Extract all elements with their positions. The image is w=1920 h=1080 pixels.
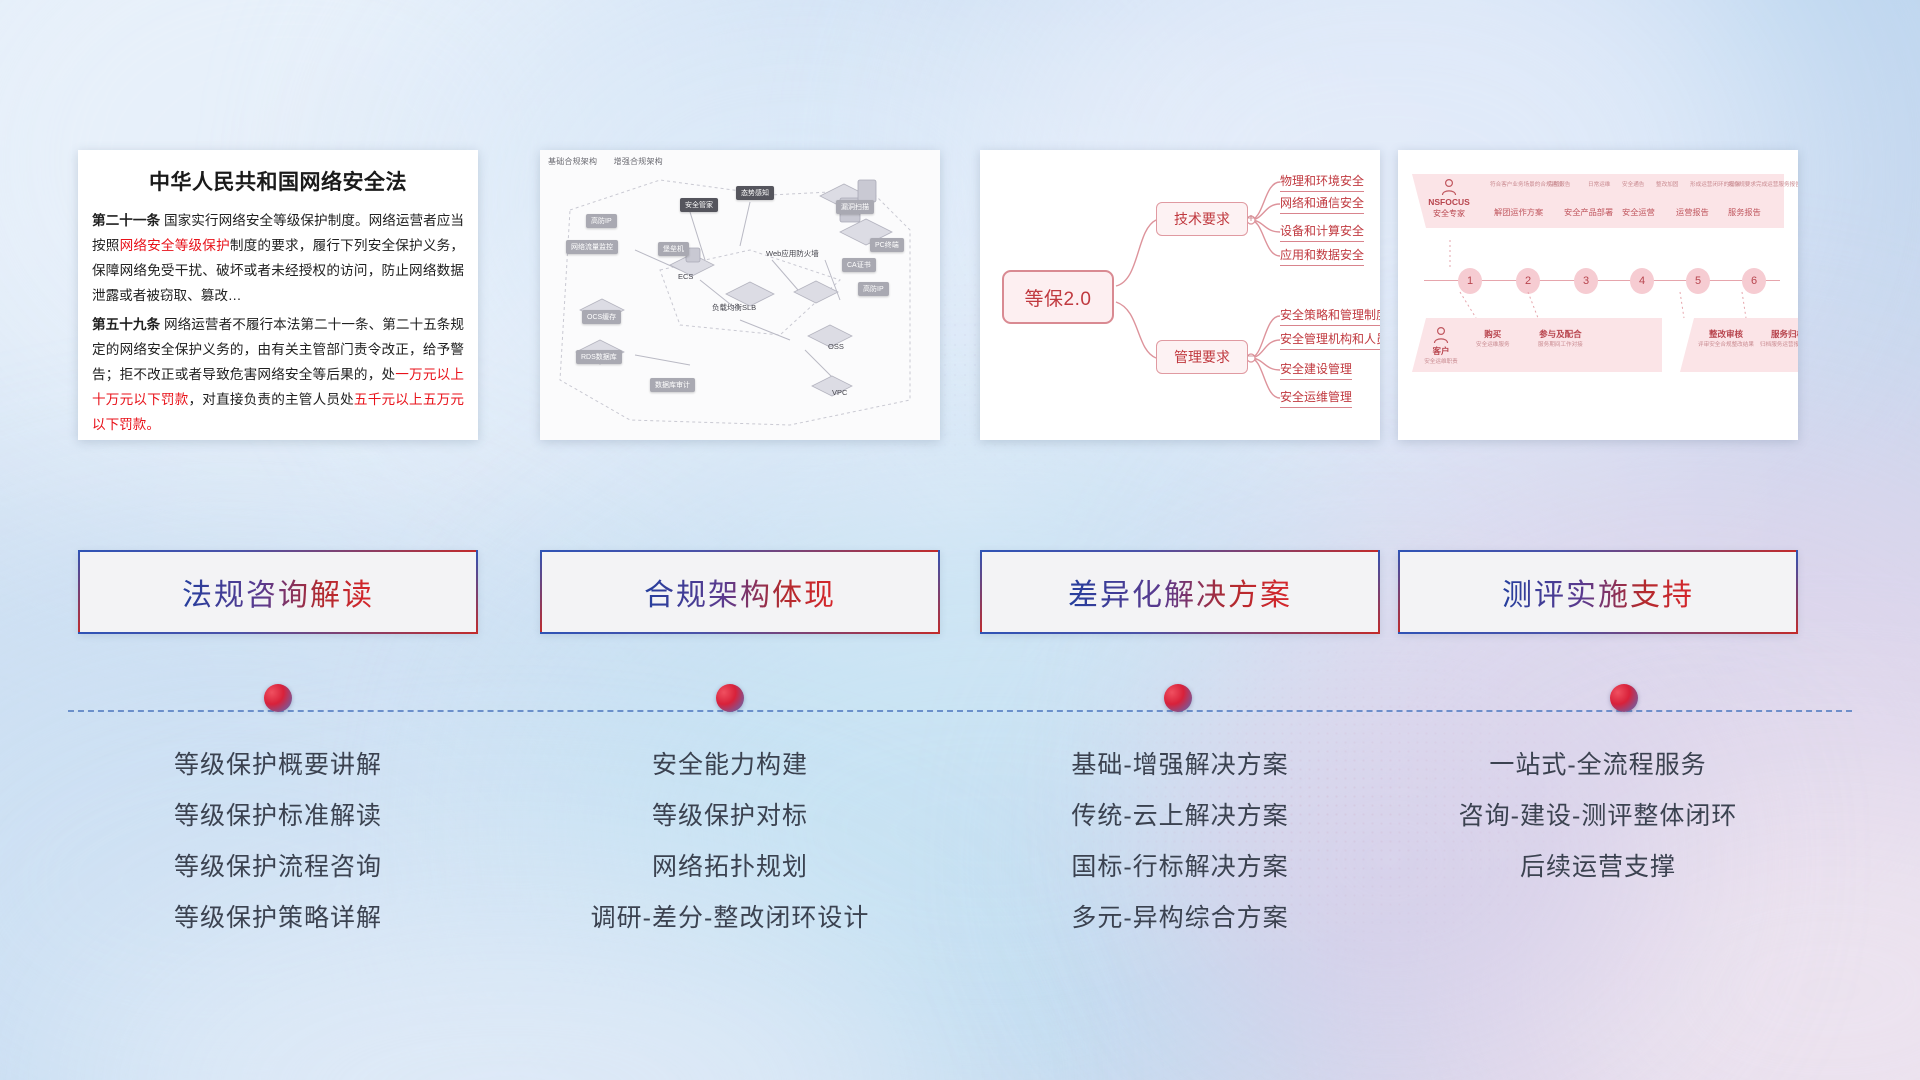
law-text: ，对直接负责的主管人员处 <box>189 392 354 407</box>
topology-chip: 高防IP <box>858 282 889 296</box>
title-label: 测评实施支持 <box>1502 570 1694 614</box>
card-service-roadmap[interactable]: NSFOCUS 安全专家 解团运作方案安全产品部署安全运营运营报告服务报告 符合… <box>1398 150 1798 440</box>
timeline-dot[interactable] <box>264 684 292 712</box>
roadmap-customer-step: 购买安全运维服务 <box>1476 328 1510 348</box>
roadmap-customer-step-sub: 服务期间工作对接 <box>1538 340 1583 348</box>
topology-node-label: Web应用防火墙 <box>766 248 819 259</box>
law-article-number: 第五十九条 <box>92 317 160 332</box>
topology-canvas: 基础合规架构 增强合规架构 <box>540 150 940 440</box>
title-label: 差异化解决方案 <box>1068 570 1292 614</box>
topology-node-label: ECS <box>678 272 693 281</box>
feature-list-item: 网络拓扑规划 <box>530 842 930 893</box>
topology-chip: CA证书 <box>842 258 876 272</box>
mindmap-leaf-node: 安全管理机构和人员 <box>1280 332 1380 350</box>
mindmap-leaf-node: 设备和计算安全 <box>1280 224 1364 242</box>
slide-stage: 中华人民共和国网络安全法 第二十一条 国家实行网络安全等级保护制度。网络运营者应… <box>0 0 1920 1080</box>
law-article-number: 第二十一条 <box>92 213 160 228</box>
title-box-top-border <box>540 550 940 552</box>
timeline-dot[interactable] <box>1164 684 1192 712</box>
feature-list-item: 后续运营支撑 <box>1398 842 1798 893</box>
title-box-regulation-consulting[interactable]: 法规咨询解读 <box>78 550 478 634</box>
mindmap-leaf-node: 安全策略和管理制度 <box>1280 308 1380 326</box>
mindmap-leaf-node: 安全运维管理 <box>1280 390 1352 408</box>
topology-chip: 漏洞扫描 <box>836 200 874 214</box>
card-mindmap[interactable]: 等保2.0 技术要求 管理要求 物理和环境安全网络和通信安全设备和计算安全应用和… <box>980 150 1380 440</box>
card-cloud-topology[interactable]: 基础合规架构 增强合规架构 <box>540 150 940 440</box>
topology-chip: 网络流量监控 <box>566 240 618 254</box>
topology-chip: 数据库审计 <box>650 378 695 392</box>
topology-node-label: VPC <box>832 388 847 397</box>
roadmap-tail-step: 整改审核评审安全合规整改结果 <box>1698 328 1754 348</box>
feature-list-item: 调研-差分-整改闭环设计 <box>530 893 930 944</box>
title-box-top-border <box>980 550 1380 552</box>
title-box-bottom-border <box>78 632 478 634</box>
customer-person-icon <box>1430 326 1452 344</box>
feature-list-differentiated-solution: 基础-增强解决方案传统-云上解决方案国标-行标解决方案多元-异构综合方案 <box>980 740 1380 944</box>
topology-chip: OCS缓存 <box>582 310 621 324</box>
card-law-document[interactable]: 中华人民共和国网络安全法 第二十一条 国家实行网络安全等级保护制度。网络运营者应… <box>78 150 478 440</box>
feature-list-item: 等级保护标准解读 <box>78 791 478 842</box>
feature-list-item: 多元-异构综合方案 <box>980 893 1380 944</box>
topology-chip: 堡垒机 <box>658 242 689 256</box>
mindmap-leaf-node: 应用和数据安全 <box>1280 248 1364 266</box>
roadmap-tail-step-title: 整改审核 <box>1698 328 1754 340</box>
title-box-differentiated-solution[interactable]: 差异化解决方案 <box>980 550 1380 634</box>
feature-list-regulation-consulting: 等级保护概要讲解等级保护标准解读等级保护流程咨询等级保护策略详解 <box>78 740 478 944</box>
feature-list-item: 一站式-全流程服务 <box>1398 740 1798 791</box>
roadmap-dotted-connectors-icon <box>1398 150 1798 440</box>
feature-list-compliance-architecture: 安全能力构建等级保护对标网络拓扑规划调研-差分-整改闭环设计 <box>530 740 930 944</box>
roadmap-customer-step-title: 参与及配合 <box>1538 328 1583 340</box>
title-label: 合规架构体现 <box>644 570 836 614</box>
feature-list-item: 安全能力构建 <box>530 740 930 791</box>
roadmap-tail-step-title: 服务归档 <box>1760 328 1798 340</box>
roadmap-customer-step-title: 购买 <box>1476 328 1510 340</box>
title-box-bottom-border <box>540 632 940 634</box>
topology-chip: PC终端 <box>870 238 904 252</box>
feature-list-item: 等级保护流程咨询 <box>78 842 478 893</box>
topology-node-label: OSS <box>828 342 844 351</box>
feature-list-item: 咨询-建设-测评整体闭环 <box>1398 791 1798 842</box>
timeline-dot[interactable] <box>716 684 744 712</box>
title-box-bottom-border <box>980 632 1380 634</box>
law-paragraph: 第五十九条 网络运营者不履行本法第二十一条、第二十五条规定的网络安全保护义务的，… <box>92 312 464 437</box>
feature-list-item: 等级保护策略详解 <box>78 893 478 944</box>
mindmap-branch-management: 管理要求 <box>1156 340 1248 374</box>
roadmap-tail-step-sub: 归档服务运营报告材料 <box>1760 340 1798 348</box>
title-box-top-border <box>78 550 478 552</box>
title-label: 法规咨询解读 <box>182 570 374 614</box>
timeline-dot[interactable] <box>1610 684 1638 712</box>
topology-chip: 高防IP <box>586 214 617 228</box>
title-box-bottom-border <box>1398 632 1798 634</box>
feature-list-item: 基础-增强解决方案 <box>980 740 1380 791</box>
law-body: 第二十一条 国家实行网络安全等级保护制度。网络运营者应当按照网络安全等级保护制度… <box>78 208 478 437</box>
timeline-dashed-line <box>68 710 1852 712</box>
roadmap-customer-step-sub: 安全运维服务 <box>1476 340 1510 348</box>
law-highlight-text: 网络安全等级保护 <box>120 238 230 253</box>
mindmap-branch-technical: 技术要求 <box>1156 202 1248 236</box>
mindmap-canvas: 等保2.0 技术要求 管理要求 物理和环境安全网络和通信安全设备和计算安全应用和… <box>980 150 1380 440</box>
feature-list-item: 国标-行标解决方案 <box>980 842 1380 893</box>
title-box-assessment-support[interactable]: 测评实施支持 <box>1398 550 1798 634</box>
law-title: 中华人民共和国网络安全法 <box>78 166 478 196</box>
mindmap-leaf-node: 安全建设管理 <box>1280 362 1352 380</box>
law-paragraph: 第二十一条 国家实行网络安全等级保护制度。网络运营者应当按照网络安全等级保护制度… <box>92 208 464 308</box>
roadmap-customer-label: 客户 安全运维职责 <box>1424 326 1458 365</box>
title-box-compliance-architecture[interactable]: 合规架构体现 <box>540 550 940 634</box>
mindmap-root-node: 等保2.0 <box>1002 270 1114 324</box>
topology-chip: RDS数据库 <box>576 350 622 364</box>
mindmap-leaf-node: 物理和环境安全 <box>1280 174 1364 192</box>
feature-list-assessment-support: 一站式-全流程服务咨询-建设-测评整体闭环后续运营支撑 <box>1398 740 1798 893</box>
roadmap-canvas: NSFOCUS 安全专家 解团运作方案安全产品部署安全运营运营报告服务报告 符合… <box>1398 150 1798 440</box>
feature-list-item: 等级保护概要讲解 <box>78 740 478 791</box>
roadmap-tail-step-sub: 评审安全合规整改结果 <box>1698 340 1754 348</box>
roadmap-tail-step: 服务归档归档服务运营报告材料 <box>1760 328 1798 348</box>
roadmap-customer-sub: 安全运维职责 <box>1424 357 1458 365</box>
roadmap-customer-step: 参与及配合服务期间工作对接 <box>1538 328 1583 348</box>
feature-list-item: 传统-云上解决方案 <box>980 791 1380 842</box>
topology-chip: 安全管家 <box>680 198 718 212</box>
mindmap-leaf-node: 网络和通信安全 <box>1280 196 1364 214</box>
roadmap-customer-name: 客户 <box>1424 345 1458 357</box>
feature-list-item: 等级保护对标 <box>530 791 930 842</box>
topology-node-label: 负载均衡SLB <box>712 302 756 313</box>
topology-chip: 态势感知 <box>736 186 774 200</box>
title-box-top-border <box>1398 550 1798 552</box>
